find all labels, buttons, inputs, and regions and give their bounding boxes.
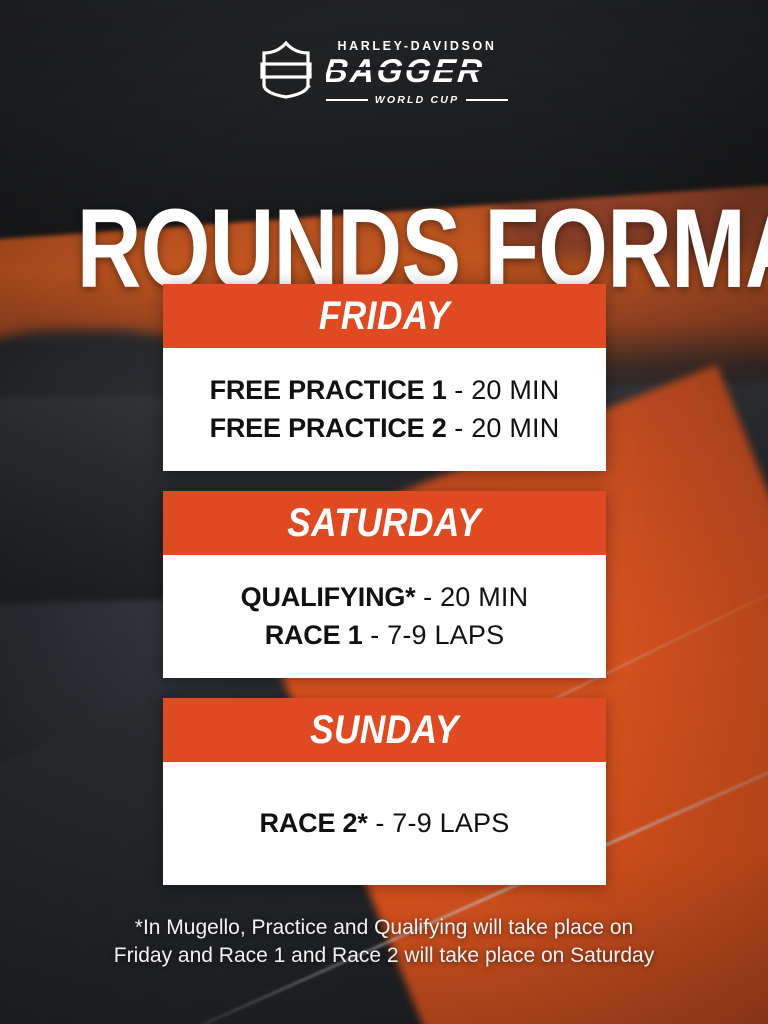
schedule-card-sunday: SUNDAY RACE 2* - 7-9 LAPS [163, 698, 606, 885]
session-row: QUALIFYING* - 20 MIN [241, 579, 529, 616]
card-body-friday: FREE PRACTICE 1 - 20 MIN FREE PRACTICE 2… [163, 348, 606, 471]
day-label-sunday: SUNDAY [310, 710, 459, 750]
wordmark-rule-right [466, 99, 508, 101]
session-value: - 7-9 LAPS [368, 808, 510, 838]
session-label: RACE 2* [260, 808, 368, 838]
session-label: FREE PRACTICE 2 [210, 413, 447, 443]
wordmark-rule-left [326, 99, 368, 101]
schedule-cards: FRIDAY FREE PRACTICE 1 - 20 MIN FREE PRA… [163, 284, 606, 885]
world-cup-label: WORLD CUP [375, 95, 460, 106]
rounds-format-poster: HARLEY-DAVIDSON BAGGER WORLD CUP ROUNDS … [0, 0, 768, 1024]
footnote: *In Mugello, Practice and Qualifying wil… [0, 914, 768, 970]
card-header-sunday: SUNDAY [163, 698, 606, 762]
session-label: QUALIFYING* [241, 582, 416, 612]
card-header-saturday: SATURDAY [163, 491, 606, 555]
session-row: FREE PRACTICE 1 - 20 MIN [210, 372, 560, 409]
day-label-friday: FRIDAY [319, 296, 450, 336]
session-value: - 20 MIN [447, 413, 560, 443]
session-label: FREE PRACTICE 1 [210, 375, 447, 405]
session-row: RACE 1 - 7-9 LAPS [265, 617, 505, 654]
session-row: FREE PRACTICE 2 - 20 MIN [210, 410, 560, 447]
schedule-card-saturday: SATURDAY QUALIFYING* - 20 MIN RACE 1 - 7… [163, 491, 606, 678]
session-value: - 7-9 LAPS [363, 620, 505, 650]
harley-davidson-bar-and-shield-icon [260, 41, 312, 104]
session-value: - 20 MIN [447, 375, 560, 405]
brand-line-bagger: BAGGER [326, 55, 508, 92]
bagger-world-cup-wordmark: HARLEY-DAVIDSON BAGGER WORLD CUP [326, 40, 508, 105]
card-body-saturday: QUALIFYING* - 20 MIN RACE 1 - 7-9 LAPS [163, 555, 606, 678]
card-header-friday: FRIDAY [163, 284, 606, 348]
session-label: RACE 1 [265, 620, 363, 650]
day-label-saturday: SATURDAY [288, 503, 482, 543]
card-body-sunday: RACE 2* - 7-9 LAPS [163, 762, 606, 885]
footnote-line-1: *In Mugello, Practice and Qualifying wil… [0, 914, 768, 942]
svg-text:BAGGER: BAGGER [326, 55, 486, 88]
poster-content: HARLEY-DAVIDSON BAGGER WORLD CUP ROUNDS … [0, 0, 768, 1024]
brand-line-world-cup: WORLD CUP [326, 95, 508, 106]
brand-line-harley-davidson: HARLEY-DAVIDSON [338, 40, 497, 53]
brand-logo-lockup: HARLEY-DAVIDSON BAGGER WORLD CUP [0, 40, 768, 105]
schedule-card-friday: FRIDAY FREE PRACTICE 1 - 20 MIN FREE PRA… [163, 284, 606, 471]
session-value: - 20 MIN [415, 582, 528, 612]
footnote-line-2: Friday and Race 1 and Race 2 will take p… [0, 942, 768, 970]
session-row: RACE 2* - 7-9 LAPS [260, 805, 510, 842]
